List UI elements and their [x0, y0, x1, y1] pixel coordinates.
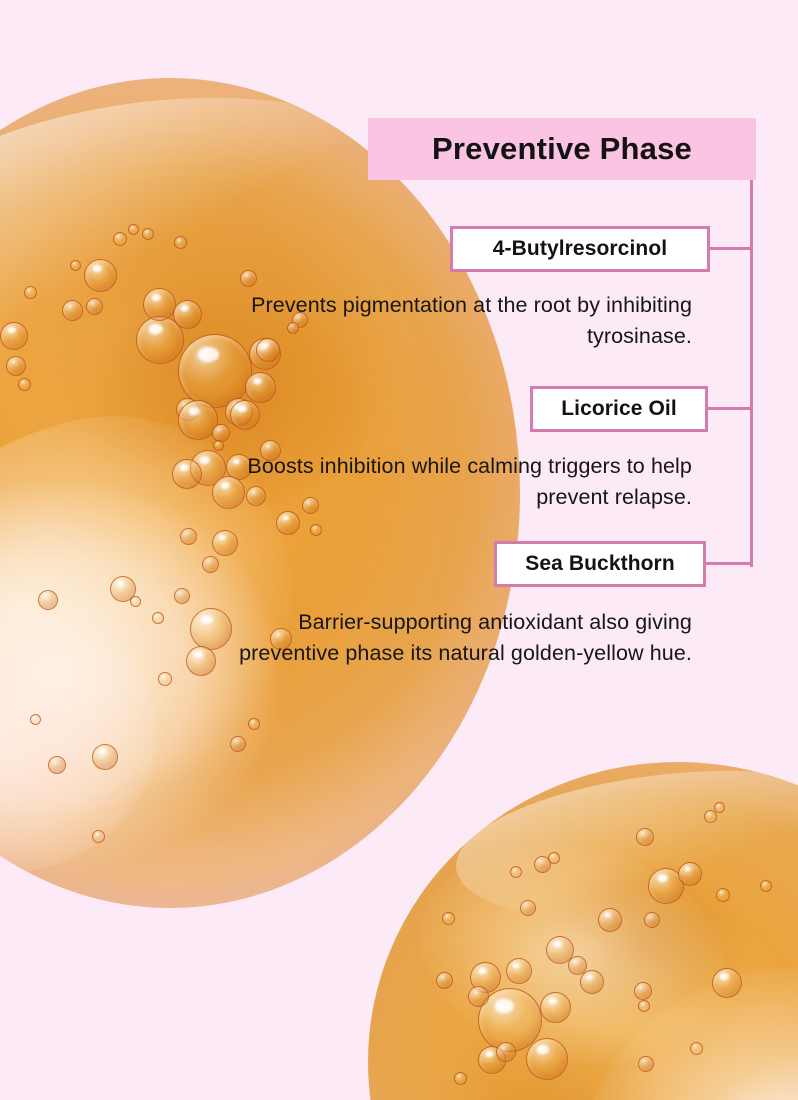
- gel-bubble: [24, 286, 37, 299]
- gel-bubble: [230, 400, 260, 430]
- gel-bubble: [276, 511, 300, 535]
- gel-bubble: [142, 228, 154, 240]
- gel-bubble: [48, 756, 66, 774]
- gel-bubble: [644, 912, 660, 928]
- gel-bubble: [520, 900, 536, 916]
- gel-bubble: [30, 714, 41, 725]
- gel-bubble: [202, 556, 219, 573]
- gel-bubble: [174, 588, 190, 604]
- gel-bubble: [143, 288, 176, 321]
- poster-canvas: Preventive Phase 4-Butylresorcinol Preve…: [0, 0, 798, 1100]
- ingredient-description-butylresorcinol: Prevents pigmentation at the root by inh…: [230, 290, 692, 352]
- gel-bubble: [468, 986, 489, 1007]
- gel-bubble: [580, 970, 604, 994]
- gel-bubble: [240, 270, 257, 287]
- gel-bubble: [638, 1000, 650, 1012]
- gel-bubble: [212, 530, 238, 556]
- connector-branch-licorice-oil: [708, 407, 753, 410]
- gel-bubble: [496, 1042, 516, 1062]
- gel-bubble: [18, 378, 31, 391]
- page-title: Preventive Phase: [368, 118, 756, 180]
- gel-bubble: [128, 224, 139, 235]
- gel-bubble: [454, 1072, 467, 1085]
- gel-bubble: [598, 908, 622, 932]
- connector-branch-sea-buckthorn: [706, 562, 753, 565]
- gel-bubble: [152, 612, 164, 624]
- gel-bubble: [760, 880, 772, 892]
- gel-bubble: [704, 810, 717, 823]
- gel-bubble: [130, 596, 141, 607]
- gel-bubble: [173, 300, 202, 329]
- gel-bubble: [712, 968, 742, 998]
- gel-bubble: [38, 590, 58, 610]
- gel-bubble: [510, 866, 522, 878]
- gel-bubble: [248, 718, 260, 730]
- gel-bubble: [172, 459, 202, 489]
- ingredient-description-licorice-oil: Boosts inhibition while calming triggers…: [230, 451, 692, 513]
- gel-bubble: [186, 646, 216, 676]
- connector-branch-butylresorcinol: [710, 247, 753, 250]
- gel-bubble: [92, 830, 105, 843]
- gel-bubble: [716, 888, 730, 902]
- ingredient-label-text: Licorice Oil: [561, 397, 677, 421]
- gel-bubble: [174, 236, 187, 249]
- ingredient-label-sea-buckthorn: Sea Buckthorn: [494, 541, 706, 587]
- ingredient-description-sea-buckthorn: Barrier-supporting antioxidant also givi…: [230, 607, 692, 669]
- golden-gel-swatch-bottom-right: [368, 762, 798, 1100]
- gel-bubble: [678, 862, 702, 886]
- ingredient-label-text: 4-Butylresorcinol: [493, 237, 667, 261]
- gel-bubble: [113, 232, 127, 246]
- gel-bubble: [526, 1038, 568, 1080]
- gel-bubble: [690, 1042, 703, 1055]
- gel-bubble: [6, 356, 26, 376]
- gel-bubble: [714, 802, 725, 813]
- gel-bubble: [310, 524, 322, 536]
- gel-bubble: [436, 972, 453, 989]
- gel-bubble: [245, 372, 276, 403]
- gel-bubble: [636, 828, 654, 846]
- ingredient-label-licorice-oil: Licorice Oil: [530, 386, 708, 432]
- gel-bubble: [634, 982, 652, 1000]
- gel-bubble: [92, 744, 118, 770]
- ingredient-label-butylresorcinol: 4-Butylresorcinol: [450, 226, 710, 272]
- gel-bubble: [506, 958, 532, 984]
- gel-bubble: [442, 912, 455, 925]
- ingredient-label-text: Sea Buckthorn: [525, 552, 675, 576]
- gel-bubble: [84, 259, 117, 292]
- gel-bubble: [62, 300, 83, 321]
- gel-bubble: [213, 440, 224, 451]
- page-title-text: Preventive Phase: [432, 131, 692, 167]
- gel-bubble: [86, 298, 103, 315]
- gel-bubble: [230, 736, 246, 752]
- gel-bubble: [158, 672, 172, 686]
- gel-bubble: [540, 992, 571, 1023]
- gel-bubble: [548, 852, 560, 864]
- gel-bubble: [180, 528, 197, 545]
- gel-bubble: [70, 260, 81, 271]
- gel-bubble: [212, 424, 230, 442]
- gel-bubble: [638, 1056, 654, 1072]
- connector-spine: [750, 180, 753, 567]
- gel-bubble: [190, 608, 232, 650]
- gel-bubble: [0, 322, 28, 350]
